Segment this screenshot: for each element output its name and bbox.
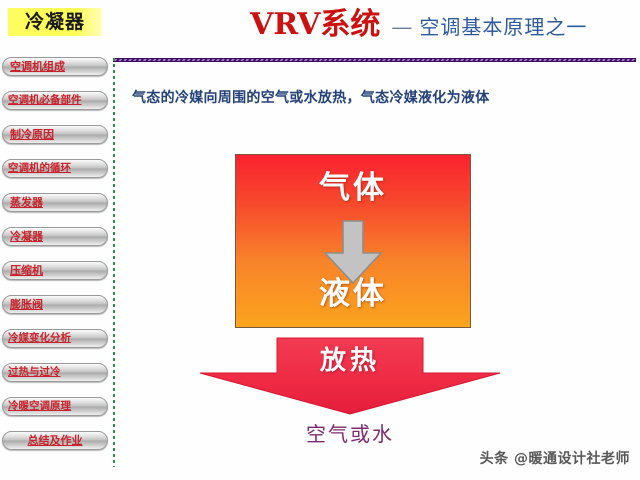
sidebar-item-label: 冷凝器 bbox=[3, 231, 43, 242]
sidebar-item-label: 总结及作业 bbox=[28, 435, 83, 446]
topic-chip: 冷凝器 bbox=[8, 8, 102, 36]
sidebar-item-heat-cool-principle[interactable]: 冷暖空调原理 bbox=[2, 397, 108, 416]
phase-label-liquid: 液体 bbox=[236, 279, 470, 310]
sidebar-item-label: 冷媒变化分析 bbox=[3, 333, 71, 344]
sidebar-item-label: 制冷原因 bbox=[3, 129, 54, 140]
panel-left-divider bbox=[113, 58, 115, 467]
sidebar-item-label: 空调机必备部件 bbox=[3, 95, 82, 106]
sidebar-item-ac-cycle[interactable]: 空调机的循环 bbox=[2, 159, 108, 178]
sidebar-item-label: 冷暖空调原理 bbox=[3, 401, 71, 412]
sidebar-item-label: 蒸发器 bbox=[3, 197, 43, 208]
sidebar-item-compressor[interactable]: 压缩机 bbox=[2, 261, 108, 280]
page-title: VRV系统 — 空调基本原理之一 bbox=[250, 10, 636, 50]
topic-chip-label: 冷凝器 bbox=[25, 13, 85, 32]
sidebar-item-ac-required-parts[interactable]: 空调机必备部件 bbox=[2, 91, 108, 110]
heat-release-arrow-icon bbox=[198, 336, 502, 416]
title-subtitle: 空调基本原理之一 bbox=[419, 17, 587, 37]
sidebar-nav: 空调机组成 空调机必备部件 制冷原因 空调机的循环 蒸发器 冷凝器 压缩机 膨胀… bbox=[0, 57, 108, 465]
sidebar-item-label: 空调机的循环 bbox=[3, 163, 71, 174]
sidebar-item-label: 膨胀阀 bbox=[3, 299, 43, 310]
lead-text: 气态的冷媒向周围的空气或水放热，气态冷媒液化为液体 bbox=[132, 87, 490, 107]
sidebar-item-cooling-principle[interactable]: 制冷原因 bbox=[2, 125, 108, 144]
arrow-caption: 空气或水 bbox=[198, 424, 502, 444]
sidebar-item-label: 压缩机 bbox=[3, 265, 43, 276]
sidebar-item-condenser[interactable]: 冷凝器 bbox=[2, 227, 108, 246]
sidebar-item-summary-homework[interactable]: 总结及作业 bbox=[2, 431, 108, 450]
slide-canvas: 冷凝器 VRV系统 — 空调基本原理之一 空调机组成 空调机必备部件 制冷原因 … bbox=[0, 0, 640, 480]
sidebar-item-superheat-subcool[interactable]: 过热与过冷 bbox=[2, 363, 108, 382]
phase-label-gas: 气体 bbox=[236, 173, 470, 204]
sidebar-item-label: 空调机组成 bbox=[3, 61, 65, 72]
panel-top-divider bbox=[113, 58, 636, 62]
title-dash: — bbox=[391, 17, 412, 38]
sidebar-item-label: 过热与过冷 bbox=[3, 367, 61, 378]
title-main: VRV系统 bbox=[250, 10, 380, 40]
sidebar-item-refrigerant-analysis[interactable]: 冷媒变化分析 bbox=[2, 329, 108, 348]
phase-change-box: 气体 液体 bbox=[235, 154, 471, 328]
watermark: 头条 @暖通设计社老师 bbox=[480, 448, 630, 468]
sidebar-item-evaporator[interactable]: 蒸发器 bbox=[2, 193, 108, 212]
sidebar-item-expansion-valve[interactable]: 膨胀阀 bbox=[2, 295, 108, 314]
sidebar-item-ac-composition[interactable]: 空调机组成 bbox=[2, 57, 108, 76]
